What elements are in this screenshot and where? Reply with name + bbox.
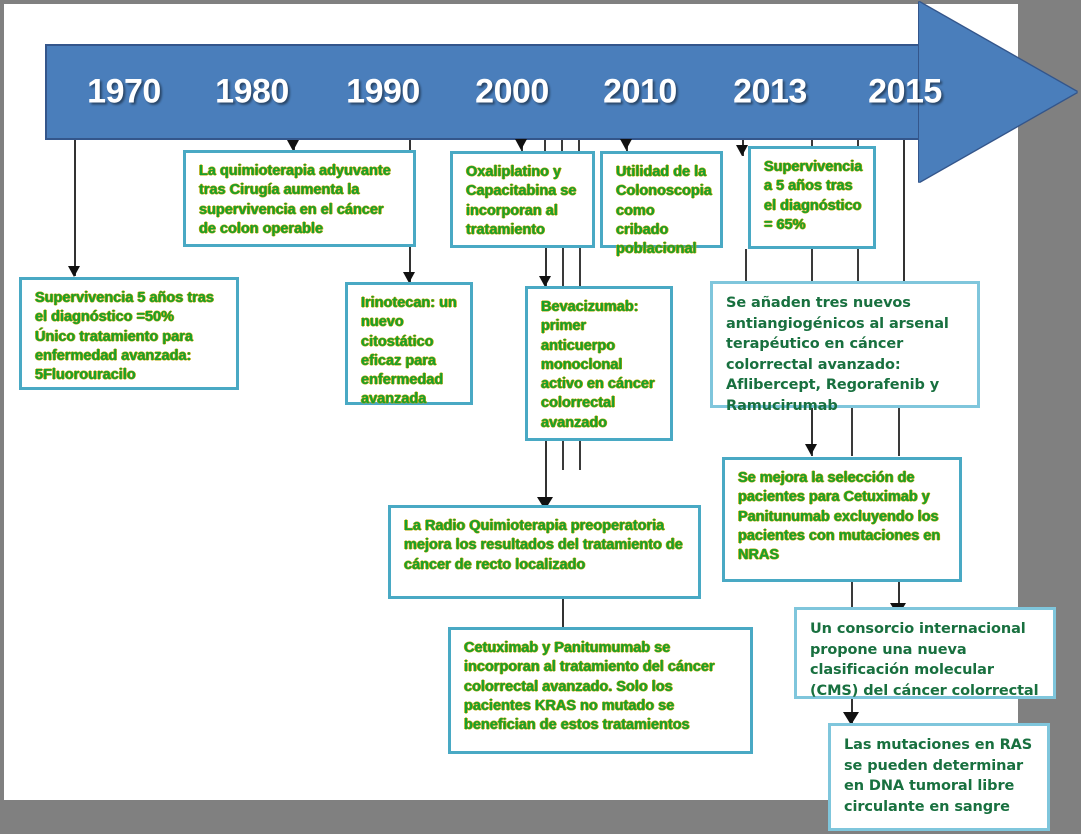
box-ras-dna-text: Las mutaciones en RAS se pueden determin… [844,735,1036,817]
timeline-year-1990: 1990 [318,73,448,112]
timeline-year-labels: 1970 1980 1990 2000 2010 2013 2015 [45,44,921,140]
box-2000-oxaliplatino-text: Oxaliplatino y Capacitabina se incorpora… [466,163,581,240]
timeline-year-2015: 2015 [840,73,970,112]
box-1970-survival-text: Supervivencia 5 años tras el diagnóstico… [35,289,225,385]
box-1990-irinotecan[interactable]: Irinotecan: un nuevo citostático eficaz … [345,282,473,405]
connector-radio-cetuximab [562,599,564,629]
box-2013-survival-text: Supervivencia a 5 años tras el diagnósti… [764,158,862,235]
box-2013-antiangiogenics-text: Se añaden tres nuevos antiangiogénicos a… [726,293,966,416]
box-2013-survival[interactable]: Supervivencia a 5 años tras el diagnósti… [748,146,876,249]
timeline-year-2000: 2000 [447,73,577,112]
connector-arrowhead-2013 [736,145,748,156]
timeline-arrow: 1970 1980 1990 2000 2010 2013 2015 [45,44,1075,140]
box-2010-colonoscopia[interactable]: Utilidad de la Colonoscopia como cribado… [600,151,723,248]
box-nras[interactable]: Se mejora la selección de pacientes para… [722,457,962,582]
box-cetuximab-text: Cetuximab y Panitumumab se incorporan al… [464,639,739,735]
box-radio-chemo[interactable]: La Radio Quimioterapia preoperatoria mej… [388,505,701,599]
box-1990-irinotecan-text: Irinotecan: un nuevo citostático eficaz … [361,294,459,410]
connector-sup65-antiangio [745,249,747,281]
timeline-year-1970: 1970 [59,73,189,112]
box-2013-antiangiogenics[interactable]: Se añaden tres nuevos antiangiogénicos a… [710,281,980,408]
connector-arrowhead-2000 [515,139,527,150]
box-2000-bevacizumab-text: Bevacizumab: primer anticuerpo monoclona… [541,298,659,433]
connector-arrowhead-1970 [68,266,80,277]
box-2000-bevacizumab[interactable]: Bevacizumab: primer anticuerpo monoclona… [525,286,673,441]
connector-arrowhead-nras [805,444,817,455]
timeline-year-1980: 1980 [187,73,317,112]
connector-nras-cms-a [851,582,853,608]
box-2010-colonoscopia-text: Utilidad de la Colonoscopia como cribado… [616,163,709,259]
box-cms[interactable]: Un consorcio internacional propone una n… [794,607,1056,699]
timeline-year-2010: 2010 [575,73,705,112]
connector-arrowhead-2010 [620,139,632,150]
box-1980-adjuvant-text: La quimioterapia adyuvante tras Cirugía … [199,162,402,239]
timeline-year-2013: 2013 [705,73,835,112]
box-cetuximab[interactable]: Cetuximab y Panitumumab se incorporan al… [448,627,753,754]
box-radio-chemo-text: La Radio Quimioterapia preoperatoria mej… [404,517,687,575]
connector-2015-b [903,140,905,281]
box-1980-adjuvant[interactable]: La quimioterapia adyuvante tras Cirugía … [183,150,416,247]
box-ras-dna[interactable]: Las mutaciones en RAS se pueden determin… [828,723,1050,831]
box-1970-survival[interactable]: Supervivencia 5 años tras el diagnóstico… [19,277,239,390]
slide-stage: 1970 1980 1990 2000 2010 2013 2015 [0,0,1081,834]
connector-1970 [74,140,76,276]
box-2000-oxaliplatino[interactable]: Oxaliplatino y Capacitabina se incorpora… [450,151,595,248]
box-cms-text: Un consorcio internacional propone una n… [810,619,1042,701]
box-nras-text: Se mejora la selección de pacientes para… [738,469,948,565]
